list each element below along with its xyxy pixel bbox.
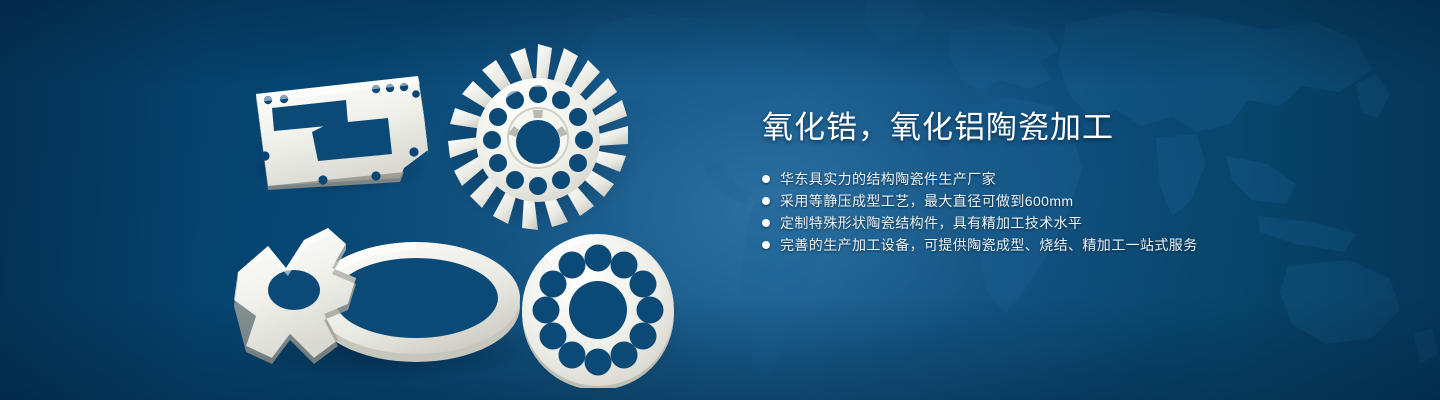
ceramic-cross-and-ring-part [234, 228, 538, 382]
banner-copy: 氧化锆，氧化铝陶瓷加工 华东具实力的结构陶瓷件生产厂家 采用等静压成型工艺，最大… [762, 108, 1382, 256]
feature-text: 华东具实力的结构陶瓷件生产厂家 [780, 168, 996, 190]
promo-banner: 氧化锆，氧化铝陶瓷加工 华东具实力的结构陶瓷件生产厂家 采用等静压成型工艺，最大… [0, 0, 1440, 400]
banner-headline: 氧化锆，氧化铝陶瓷加工 [762, 108, 1382, 148]
ceramic-products-illustration [228, 28, 728, 388]
list-item: 华东具实力的结构陶瓷件生产厂家 [762, 168, 1382, 190]
bullet-dot-icon [762, 219, 770, 227]
bullet-dot-icon [762, 175, 770, 183]
feature-text: 定制特殊形状陶瓷结构件，具有精加工技术水平 [780, 212, 1082, 234]
list-item: 定制特殊形状陶瓷结构件，具有精加工技术水平 [762, 212, 1382, 234]
feature-text: 完善的生产加工设备，可提供陶瓷成型、烧结、精加工一站式服务 [780, 234, 1198, 256]
ceramic-plate-part [246, 76, 430, 194]
bullet-dot-icon [762, 241, 770, 249]
bullet-dot-icon [762, 197, 770, 205]
feature-text: 采用等静压成型工艺，最大直径可做到600mm [780, 190, 1073, 212]
ceramic-products-image [228, 28, 728, 388]
list-item: 采用等静压成型工艺，最大直径可做到600mm [762, 190, 1382, 212]
list-item: 完善的生产加工设备，可提供陶瓷成型、烧结、精加工一站式服务 [762, 234, 1382, 256]
ceramic-perforated-disc-part [518, 234, 682, 388]
banner-feature-list: 华东具实力的结构陶瓷件生产厂家 采用等静压成型工艺，最大直径可做到600mm 定… [762, 168, 1382, 256]
ceramic-impeller-part [438, 44, 638, 232]
